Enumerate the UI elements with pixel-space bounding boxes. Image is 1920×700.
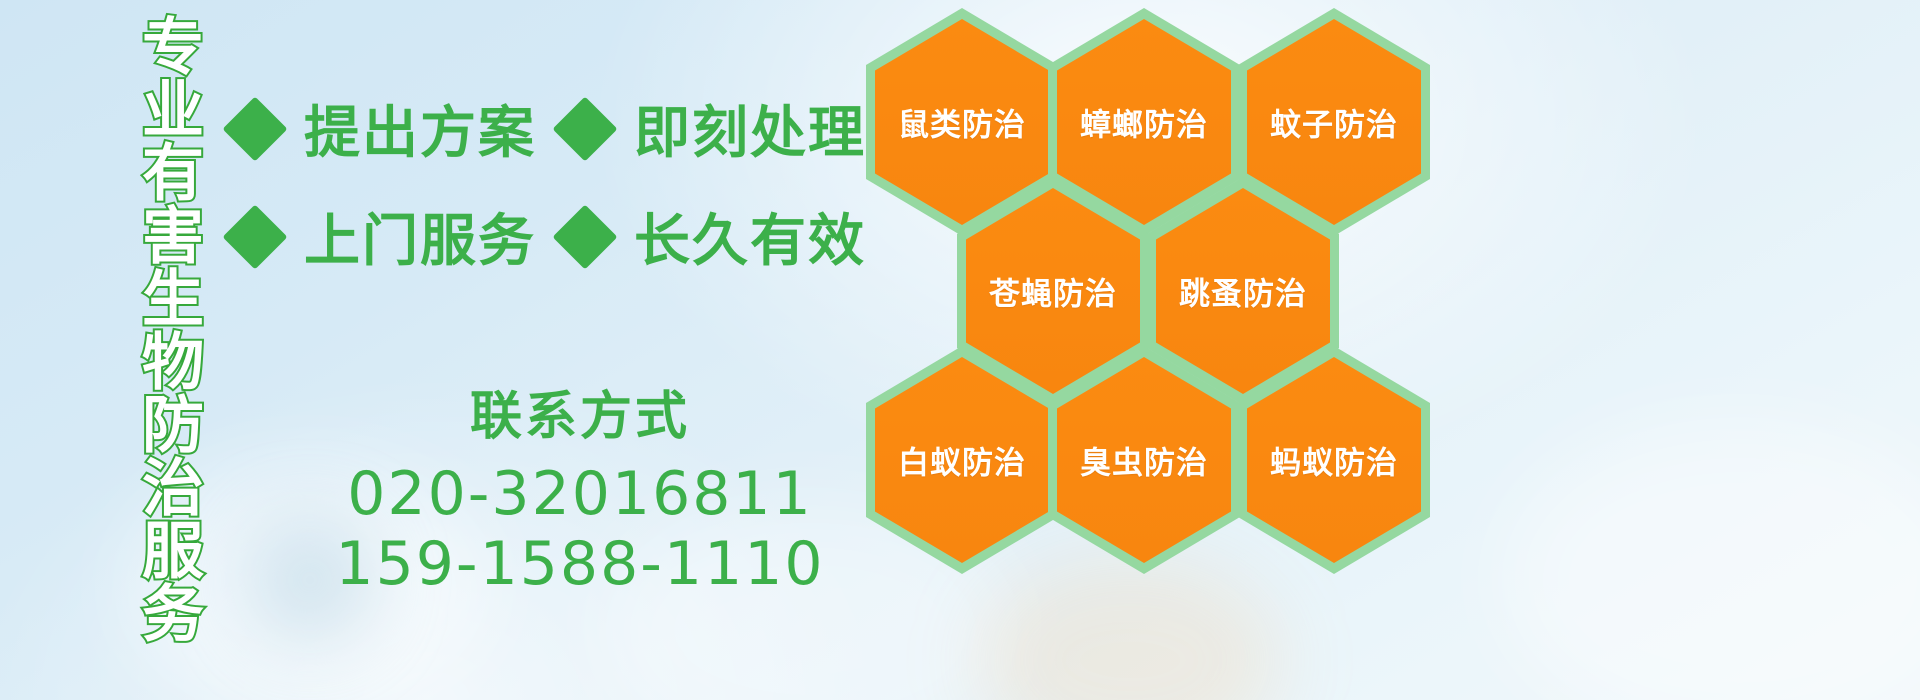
hex-service-label: 蚊子防治: [1238, 100, 1430, 145]
hex-service-cell[interactable]: 臭虫防治: [1048, 346, 1240, 574]
contact-phone-mobile[interactable]: 159-1588-1110: [300, 529, 860, 600]
feature-item-immediate-handling: 即刻处理: [634, 88, 866, 169]
hex-service-label: 跳蚤防治: [1147, 269, 1339, 314]
diamond-icon: [222, 204, 287, 269]
feature-row-2: 上门服务 长久有效: [232, 196, 888, 277]
feature-row-1: 提出方案 即刻处理: [232, 88, 888, 169]
contact-title: 联系方式: [300, 390, 860, 445]
hex-service-label: 臭虫防治: [1048, 438, 1240, 483]
feature-item-onsite-service: 上门服务: [304, 196, 536, 277]
hex-service-label: 苍蝇防治: [957, 269, 1149, 314]
hex-service-label: 鼠类防治: [866, 100, 1058, 145]
feature-item-propose-plan: 提出方案: [304, 88, 536, 169]
background-blob: [1500, 420, 1920, 700]
vertical-headline: 专业有害生物防治服务: [103, 14, 199, 644]
hex-service-label: 蟑螂防治: [1048, 100, 1240, 145]
contact-block: 联系方式 020-32016811 159-1588-1110: [300, 390, 860, 600]
hex-service-cell[interactable]: 蚂蚁防治: [1238, 346, 1430, 574]
diamond-icon: [222, 96, 287, 161]
diamond-icon: [552, 204, 617, 269]
feature-item-long-lasting: 长久有效: [634, 196, 866, 277]
pest-control-banner: 专业有害生物防治服务 提出方案 即刻处理 上门服务 长久有效 联系方式 020-…: [0, 0, 1920, 700]
hex-service-label: 白蚁防治: [866, 438, 1058, 483]
hex-service-label: 蚂蚁防治: [1238, 438, 1430, 483]
hex-service-cell[interactable]: 白蚁防治: [866, 346, 1058, 574]
background-blob: [980, 560, 1280, 700]
diamond-icon: [552, 96, 617, 161]
contact-phone-landline[interactable]: 020-32016811: [300, 459, 860, 530]
